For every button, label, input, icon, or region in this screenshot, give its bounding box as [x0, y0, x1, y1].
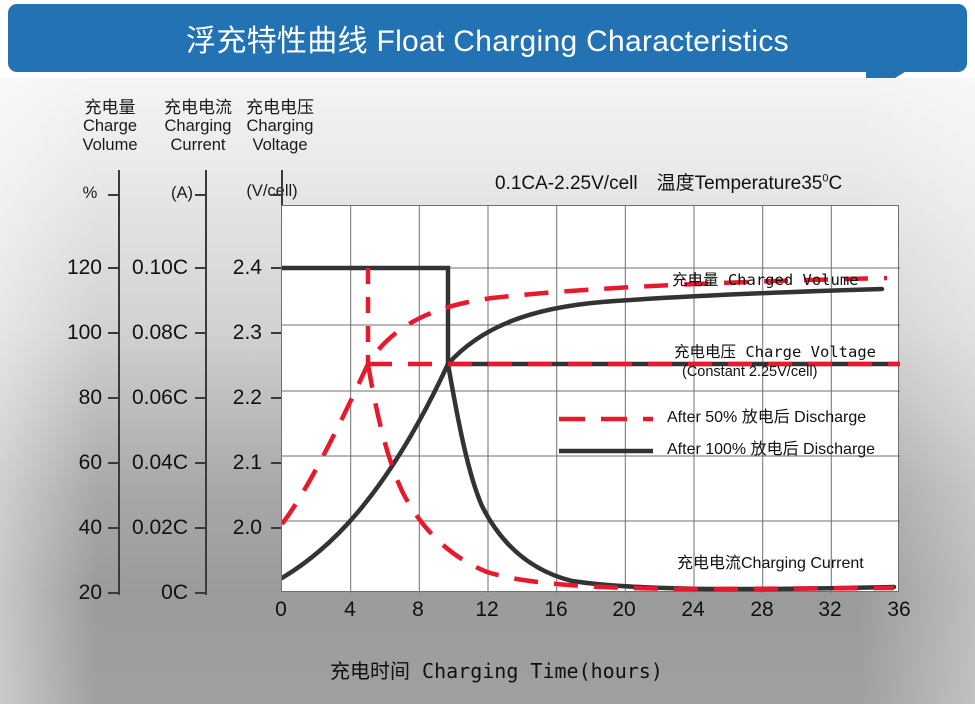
- legend-label-50: After 50% 放电后 Discharge: [667, 403, 866, 427]
- legend-label-100: After 100% 放电后 Discharge: [667, 435, 875, 459]
- legend-swatch-solid: [557, 443, 657, 459]
- legend-swatch-dashed: [557, 411, 657, 427]
- condition-note-tail: C: [829, 173, 843, 194]
- x-axis-label: 28: [742, 598, 782, 622]
- y-axis-3-label: 2.1: [200, 451, 262, 475]
- x-axis-label: 8: [398, 598, 438, 622]
- y-axis-1-label: 20: [40, 581, 102, 605]
- y-axis-2-label: 0.06C: [108, 386, 188, 410]
- y-axis-1-label: 80: [40, 386, 102, 410]
- gridlines: [282, 206, 900, 593]
- x-axis-label: 36: [879, 598, 919, 622]
- annotation-charge-voltage: 充电电压 Charge Voltage: [674, 340, 876, 362]
- y-axis-3-tick: [271, 267, 281, 269]
- y-axis-3-tick: [271, 462, 281, 464]
- x-axis-label: 24: [673, 598, 713, 622]
- x-axis-label: 0: [261, 598, 301, 622]
- x-axis-label: 4: [330, 598, 370, 622]
- annotation-charged-volume: 充电量 Charged Volume: [672, 268, 858, 290]
- plot-area: 充电量 Charged Volume 充电电压 Charge Voltage (…: [281, 205, 899, 592]
- x-axis-title: 充电时间 Charging Time(hours): [330, 655, 663, 684]
- y-axis-3-tick: [271, 527, 281, 529]
- axis-header-en2: Volume: [62, 136, 158, 155]
- y-axis-1-tick: [108, 194, 118, 196]
- y-axis-3-label: 2.2: [200, 386, 262, 410]
- unit-percent: %: [68, 184, 112, 203]
- y-axis-2-tick: [195, 592, 205, 594]
- axis-header-en1: Charge: [62, 117, 158, 136]
- y-axis-3-spine: [281, 170, 283, 206]
- axis-header-cn: 充电电压: [232, 98, 328, 117]
- y-axis-3-label: 2.3: [200, 321, 262, 345]
- y-axis-1-label: 40: [40, 516, 102, 540]
- y-axis-3-tick: [271, 194, 281, 196]
- y-axis-1-label: 120: [40, 256, 102, 280]
- y-axis-2-tick: [195, 194, 205, 196]
- header-banner: 浮充特性曲线 Float Charging Characteristics: [8, 4, 967, 72]
- x-axis-label: 32: [810, 598, 850, 622]
- axis-header-en1: Charging: [232, 117, 328, 136]
- chart-page: 浮充特性曲线 Float Charging Characteristics 充电…: [0, 0, 975, 704]
- condition-note: 0.1CA-2.25V/cell 温度Temperature350C: [495, 168, 842, 195]
- annotation-charge-voltage-sub: (Constant 2.25V/cell): [682, 364, 817, 380]
- axis-header-cn: 充电量: [62, 98, 158, 117]
- axis-header-charging-voltage: 充电电压 Charging Voltage: [232, 98, 328, 155]
- series-volume-red: [282, 278, 887, 524]
- page-title: 浮充特性曲线 Float Charging Characteristics: [8, 4, 967, 72]
- axis-header-charge-volume: 充电量 Charge Volume: [62, 98, 158, 155]
- y-axis-1-label: 60: [40, 451, 102, 475]
- y-axis-2-label: 0.04C: [108, 451, 188, 475]
- x-axis-label: 16: [536, 598, 576, 622]
- chart-svg: [282, 206, 900, 593]
- condition-note-main: 0.1CA-2.25V/cell 温度Temperature35: [495, 173, 822, 194]
- y-axis-2-label: 0.02C: [108, 516, 188, 540]
- series-volume-black: [282, 289, 882, 578]
- axis-header-en2: Voltage: [232, 136, 328, 155]
- y-axis-2-label: 0.10C: [108, 256, 188, 280]
- y-axis-3-tick: [271, 397, 281, 399]
- unit-volts-per-cell: (V/cell): [222, 182, 322, 201]
- x-axis-label: 20: [604, 598, 644, 622]
- x-axis-label: 12: [467, 598, 507, 622]
- y-axis-2-label: 0C: [108, 581, 188, 605]
- y-axis-3-label: 2.0: [200, 516, 262, 540]
- y-axis-3-label: 2.4: [200, 256, 262, 280]
- annotation-charging-current: 充电电流Charging Current: [677, 549, 864, 573]
- y-axis-3-tick: [271, 332, 281, 334]
- y-axis-2-label: 0.08C: [108, 321, 188, 345]
- y-axis-1-label: 100: [40, 321, 102, 345]
